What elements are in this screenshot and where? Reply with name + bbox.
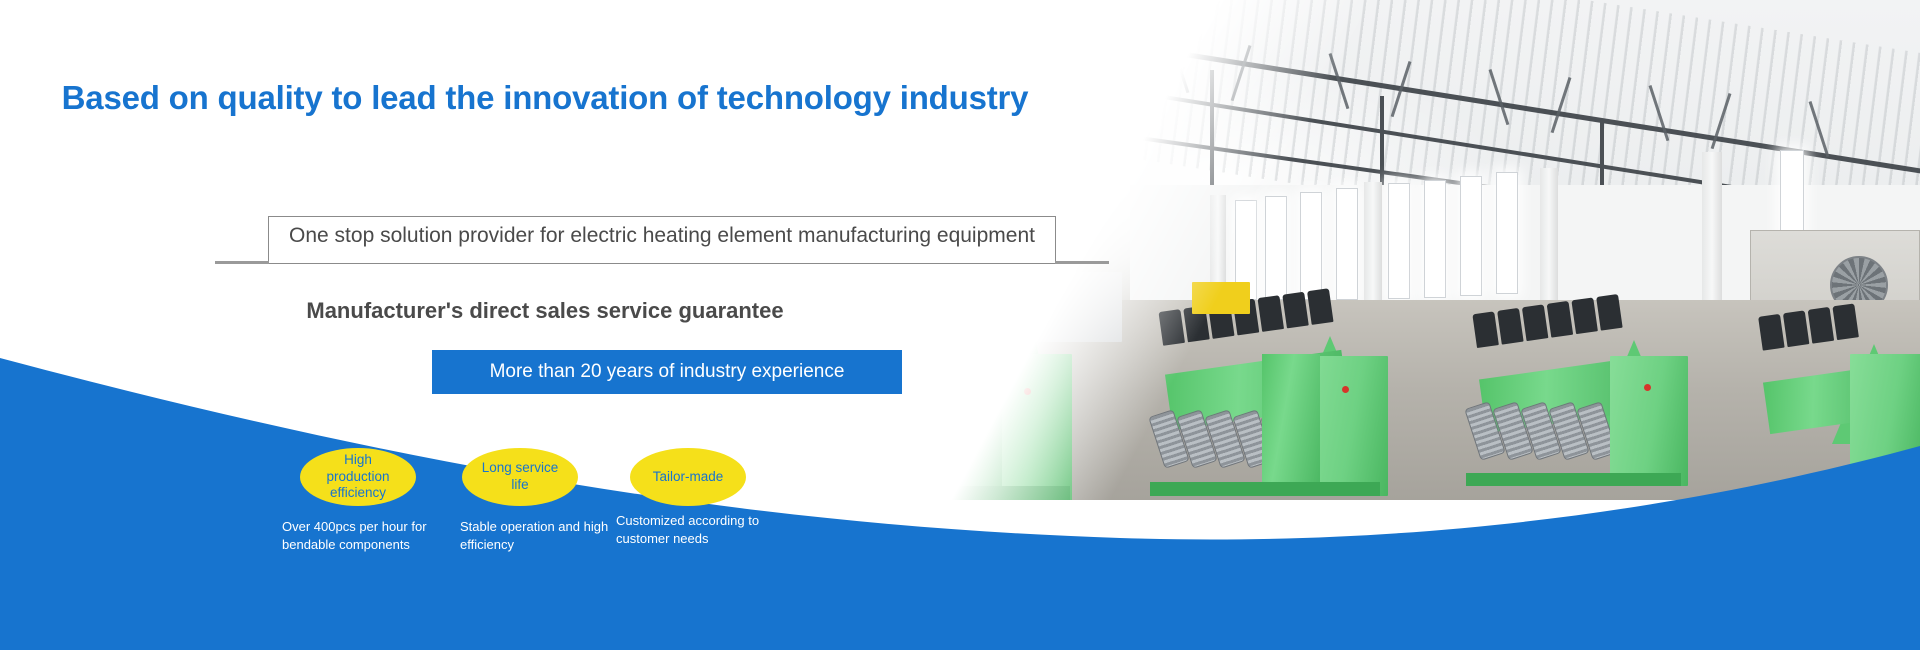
hero-banner: Based on quality to lead the innovation … xyxy=(0,0,1920,650)
feature-description: Stable operation and high efficiency xyxy=(460,518,620,553)
feature-description: Over 400pcs per hour for bendable compon… xyxy=(282,518,442,553)
page-title: Based on quality to lead the innovation … xyxy=(0,78,1090,118)
feature-badge: Tailor-made xyxy=(630,448,746,506)
feature-badge: High production efficiency xyxy=(300,448,416,506)
feature-list: High production efficiency Over 400pcs p… xyxy=(0,448,1090,588)
feature-item-high-production-efficiency: High production efficiency Over 400pcs p… xyxy=(300,448,442,553)
feature-description: Customized according to customer needs xyxy=(616,512,776,547)
hero-tagline: Manufacturer's direct sales service guar… xyxy=(0,298,1090,324)
roof-hanger xyxy=(1210,70,1214,200)
feature-badge: Long service life xyxy=(462,448,578,506)
experience-cta-button[interactable]: More than 20 years of industry experienc… xyxy=(432,350,902,394)
yellow-hopper xyxy=(1192,282,1250,314)
hero-subtitle: One stop solution provider for electric … xyxy=(268,222,1056,250)
feature-item-long-service-life: Long service life Stable operation and h… xyxy=(462,448,620,553)
feature-item-tailor-made: Tailor-made Customized according to cust… xyxy=(630,448,776,547)
